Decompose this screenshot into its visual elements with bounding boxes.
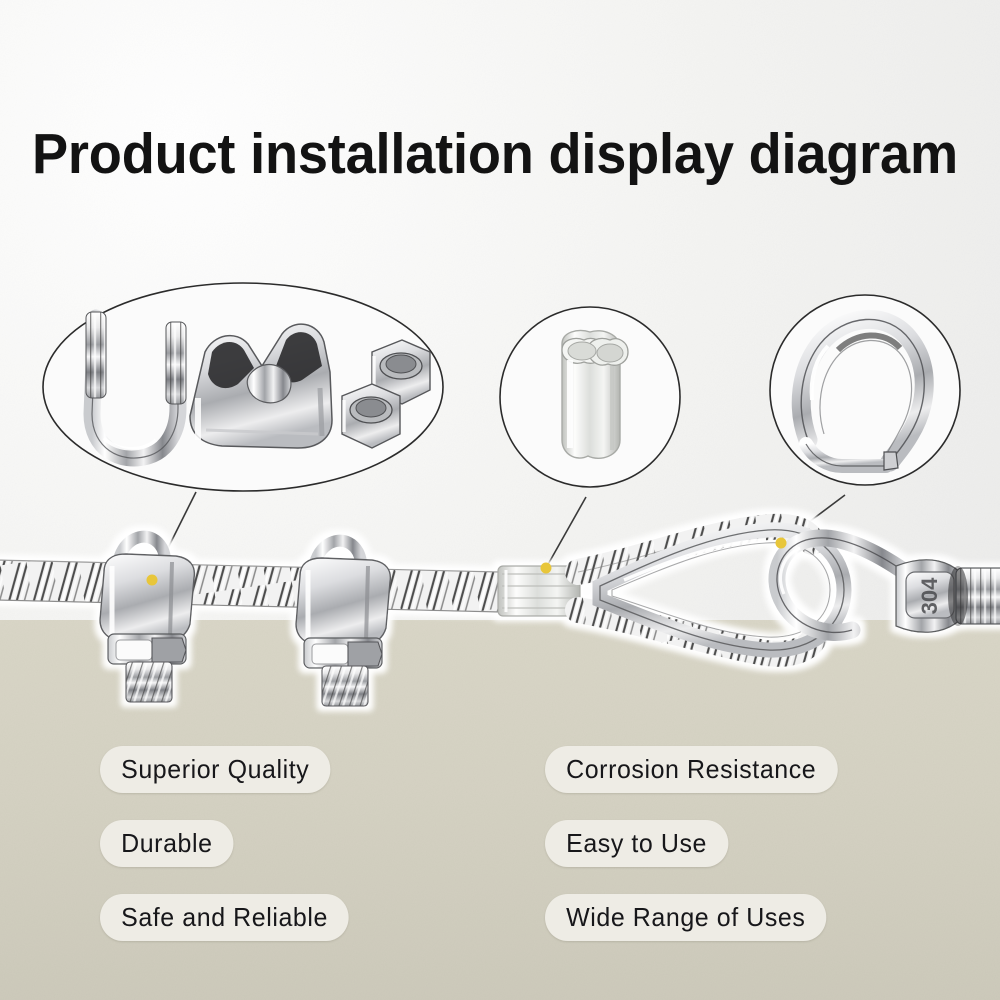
grade-stamp: 304 <box>917 577 942 614</box>
wire-rope-clamp-1 <box>100 537 194 702</box>
cable-assembly: 304 <box>0 527 1000 706</box>
u-bolt-thread-left <box>86 312 106 398</box>
ferrule-callout <box>500 307 680 487</box>
feature-pill-superior-quality[interactable]: Superior Quality <box>100 746 330 793</box>
feature-pill-easy-to-use[interactable]: Easy to Use <box>545 820 728 867</box>
feature-pill-corrosion-resistance[interactable]: Corrosion Resistance <box>545 746 837 793</box>
hardware-body: 304 <box>896 560 1000 633</box>
hex-nut-2 <box>342 384 400 448</box>
clamp-2-bolt-threads <box>322 666 368 706</box>
clamp-callout <box>43 283 443 491</box>
feature-pill-wide-range-of-uses[interactable]: Wide Range of Uses <box>545 894 827 941</box>
marker-dot-thimble <box>776 538 787 549</box>
clamp-1-bolt-threads <box>126 662 172 702</box>
leader-line-ferrule <box>546 497 586 568</box>
thimble-callout <box>770 295 960 485</box>
product-display-image: Product installation display diagram <box>0 0 1000 1000</box>
u-bolt-thread-right <box>166 322 186 404</box>
marker-dot-ferrule <box>541 563 552 574</box>
feature-pill-durable[interactable]: Durable <box>100 820 234 867</box>
marker-dot-clamp <box>147 575 158 586</box>
wire-rope <box>0 560 500 612</box>
wire-rope-clamp-2 <box>296 541 390 706</box>
feature-pill-safe-and-reliable[interactable]: Safe and Reliable <box>100 894 349 941</box>
crimp-sleeve-icon <box>562 331 628 459</box>
